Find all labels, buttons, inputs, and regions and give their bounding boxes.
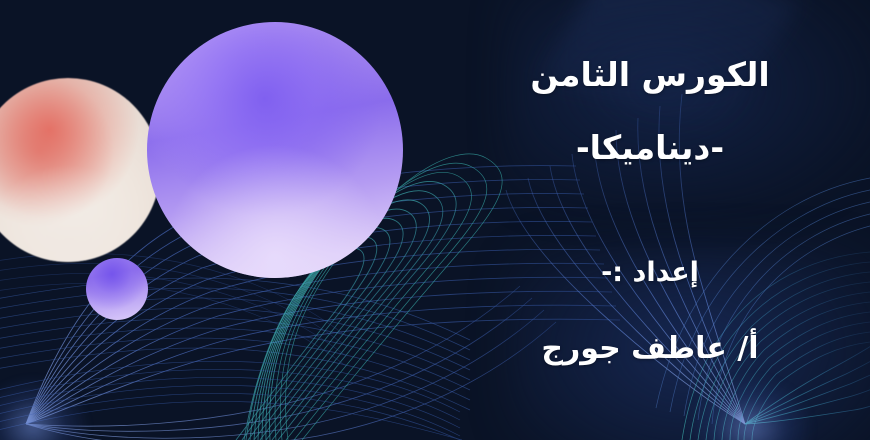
- small-violet-sphere: [86, 258, 148, 320]
- course-subtitle: -ديناميكا-: [430, 131, 870, 166]
- credit-label: إعداد :-: [430, 259, 870, 287]
- title-text-block: الكورس الثامن -ديناميكا- إعداد :- أ/ عاط…: [430, 0, 870, 440]
- large-violet-sphere: [147, 22, 403, 278]
- course-title: الكورس الثامن: [430, 58, 870, 93]
- title-slide: الكورس الثامن -ديناميكا- إعداد :- أ/ عاط…: [0, 0, 870, 440]
- credit-name: أ/ عاطف جورج: [430, 333, 870, 365]
